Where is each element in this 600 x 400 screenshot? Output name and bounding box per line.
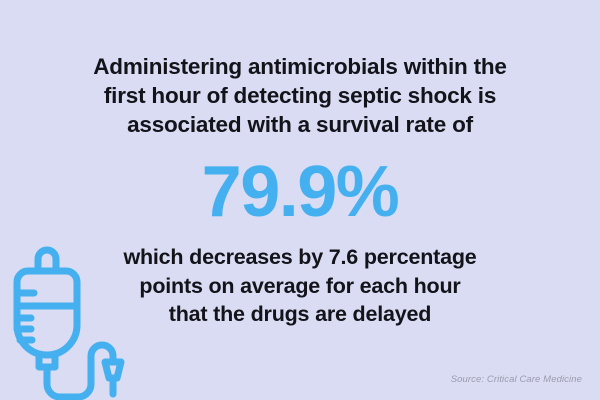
headline-line-2: first hour of detecting septic shock is <box>46 81 554 110</box>
subtext-line-3: that the drugs are delayed <box>78 300 522 329</box>
hero-statistic: 79.9% <box>0 153 600 231</box>
headline-text: Administering antimicrobials within the … <box>0 52 600 139</box>
iv-hanger-loop <box>38 250 56 270</box>
iv-bag-icon <box>4 244 140 400</box>
headline-line-1: Administering antimicrobials within the <box>46 52 554 81</box>
source-credit: Source: Critical Care Medicine <box>451 374 582 385</box>
subtext-line-2: points on average for each hour <box>78 272 522 301</box>
headline-line-3: associated with a survival rate of <box>46 110 554 139</box>
subtext-line-1: which decreases by 7.6 percentage <box>78 243 522 272</box>
iv-bag-icon-graphic <box>4 244 140 400</box>
infographic-canvas: Administering antimicrobials within the … <box>0 0 600 400</box>
